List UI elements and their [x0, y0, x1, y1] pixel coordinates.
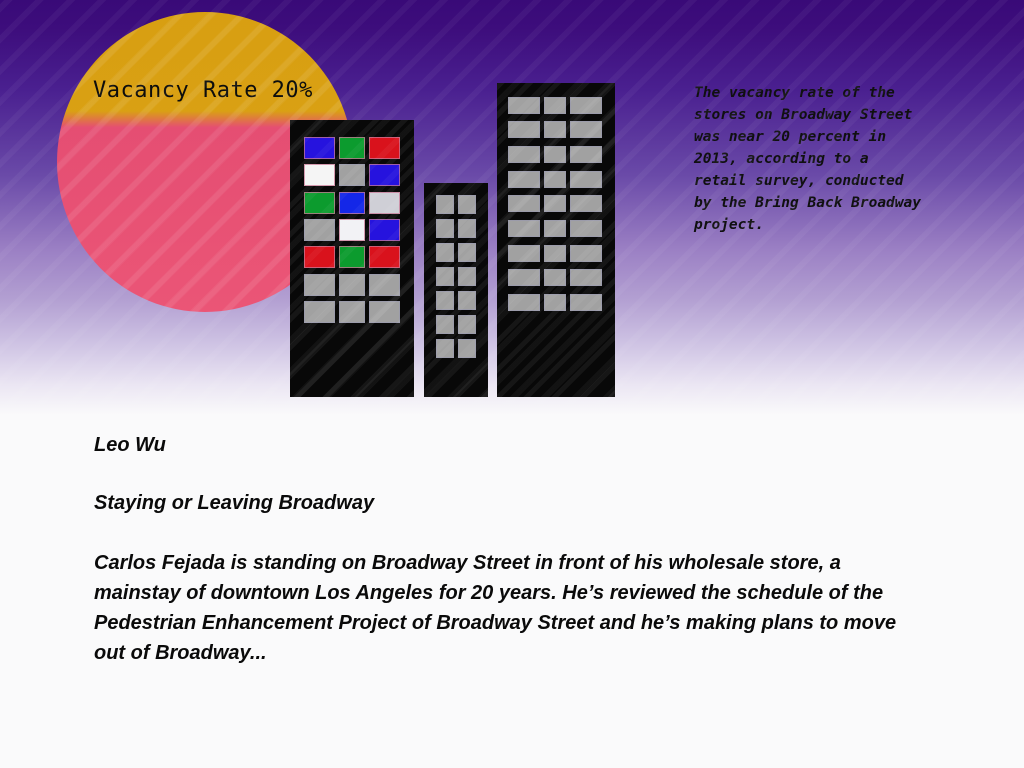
window-cell	[434, 312, 456, 336]
window-cell	[456, 312, 478, 336]
window-cell	[367, 189, 402, 216]
window-cell	[506, 266, 542, 291]
window-cell	[337, 161, 367, 188]
window-cell	[456, 217, 478, 241]
building-window	[544, 146, 566, 163]
window-cell	[506, 290, 542, 315]
window-cell	[506, 216, 542, 241]
window-cell	[506, 142, 542, 167]
window-cell	[568, 93, 604, 118]
building-window	[570, 171, 602, 188]
slide-canvas: Vacancy Rate 20% The vacancy rate of the…	[0, 0, 1024, 768]
window-cell	[568, 241, 604, 266]
window-cell	[367, 299, 402, 326]
window-cell	[506, 167, 542, 192]
article-block: Leo Wu Staying or Leaving Broadway Carlo…	[94, 430, 954, 668]
window-cell	[542, 192, 568, 217]
building-window	[570, 269, 602, 286]
window-cell	[337, 299, 367, 326]
building-window	[369, 137, 400, 159]
building-window	[339, 274, 365, 296]
building-window	[544, 121, 566, 138]
building-window	[458, 267, 476, 286]
window-cell	[542, 93, 568, 118]
window-cell	[542, 216, 568, 241]
middle-building	[424, 183, 488, 397]
building-window	[458, 243, 476, 262]
article-headline: Staying or Leaving Broadway	[94, 488, 954, 518]
building-window	[339, 192, 365, 214]
window-cell	[542, 118, 568, 143]
building-window	[304, 137, 335, 159]
building-window	[458, 315, 476, 334]
window-cell	[568, 142, 604, 167]
window-cell	[568, 167, 604, 192]
building-window	[458, 339, 476, 358]
building-window	[544, 195, 566, 212]
window-cell	[434, 288, 456, 312]
building-window	[369, 301, 400, 323]
building-window	[436, 243, 454, 262]
building-window	[436, 219, 454, 238]
window-cell	[302, 134, 337, 161]
window-cell	[302, 271, 337, 298]
window-cell	[542, 241, 568, 266]
window-cell	[456, 265, 478, 289]
window-cell	[434, 336, 456, 360]
building-window	[458, 291, 476, 310]
building-window	[304, 192, 335, 214]
building-window	[544, 245, 566, 262]
building-window	[436, 195, 454, 214]
left-building	[290, 120, 414, 397]
window-cell	[367, 161, 402, 188]
window-cell	[302, 189, 337, 216]
left-building-window-grid	[302, 134, 402, 326]
building-window	[570, 97, 602, 114]
window-cell	[506, 93, 542, 118]
building-window	[570, 146, 602, 163]
building-window	[508, 171, 540, 188]
middle-building-window-grid	[434, 193, 478, 360]
building-window	[458, 219, 476, 238]
window-cell	[337, 134, 367, 161]
right-building-window-grid	[506, 93, 606, 315]
building-window	[369, 246, 400, 268]
building-window	[508, 146, 540, 163]
window-cell	[302, 161, 337, 188]
building-window	[304, 301, 335, 323]
window-cell	[542, 290, 568, 315]
window-cell	[542, 167, 568, 192]
building-window	[570, 195, 602, 212]
building-window	[508, 121, 540, 138]
building-window	[304, 246, 335, 268]
building-window	[570, 294, 602, 311]
article-byline: Leo Wu	[94, 430, 954, 460]
window-cell	[568, 290, 604, 315]
building-window	[508, 195, 540, 212]
building-window	[544, 294, 566, 311]
window-cell	[367, 216, 402, 243]
window-cell	[337, 216, 367, 243]
window-cell	[568, 118, 604, 143]
window-cell	[506, 118, 542, 143]
window-cell	[337, 244, 367, 271]
window-cell	[568, 216, 604, 241]
building-window	[436, 315, 454, 334]
window-cell	[506, 192, 542, 217]
window-cell	[456, 241, 478, 265]
article-body: Carlos Fejada is standing on Broadway St…	[94, 548, 924, 668]
right-building	[497, 83, 615, 397]
building-window	[508, 269, 540, 286]
building-window	[304, 274, 335, 296]
window-cell	[302, 299, 337, 326]
pie-chart-title: Vacancy Rate 20%	[93, 78, 313, 103]
building-window	[339, 246, 365, 268]
window-cell	[367, 244, 402, 271]
building-window	[436, 339, 454, 358]
building-window	[570, 245, 602, 262]
window-cell	[337, 189, 367, 216]
building-window	[304, 164, 335, 186]
building-window	[508, 220, 540, 237]
building-window	[570, 220, 602, 237]
building-window	[544, 171, 566, 188]
window-cell	[456, 288, 478, 312]
window-cell	[456, 193, 478, 217]
building-window	[570, 121, 602, 138]
building-window	[369, 192, 400, 214]
building-window	[339, 137, 365, 159]
window-cell	[434, 241, 456, 265]
window-cell	[302, 216, 337, 243]
building-window	[339, 301, 365, 323]
window-cell	[302, 244, 337, 271]
window-cell	[367, 271, 402, 298]
building-window	[369, 164, 400, 186]
building-window	[544, 220, 566, 237]
window-cell	[542, 266, 568, 291]
building-window	[369, 274, 400, 296]
window-cell	[434, 193, 456, 217]
building-window	[508, 294, 540, 311]
window-cell	[337, 271, 367, 298]
window-cell	[434, 217, 456, 241]
building-window	[369, 219, 400, 241]
building-window	[544, 97, 566, 114]
window-cell	[367, 134, 402, 161]
building-window	[508, 97, 540, 114]
building-window	[458, 195, 476, 214]
building-window	[436, 291, 454, 310]
vacancy-caption-text: The vacancy rate of the stores on Broadw…	[694, 82, 926, 236]
window-cell	[568, 192, 604, 217]
building-window	[508, 245, 540, 262]
window-cell	[434, 265, 456, 289]
building-window	[304, 219, 335, 241]
building-window	[339, 164, 365, 186]
window-cell	[456, 336, 478, 360]
building-window	[544, 269, 566, 286]
window-cell	[568, 266, 604, 291]
building-window	[436, 267, 454, 286]
window-cell	[506, 241, 542, 266]
window-cell	[542, 142, 568, 167]
building-window	[339, 219, 365, 241]
